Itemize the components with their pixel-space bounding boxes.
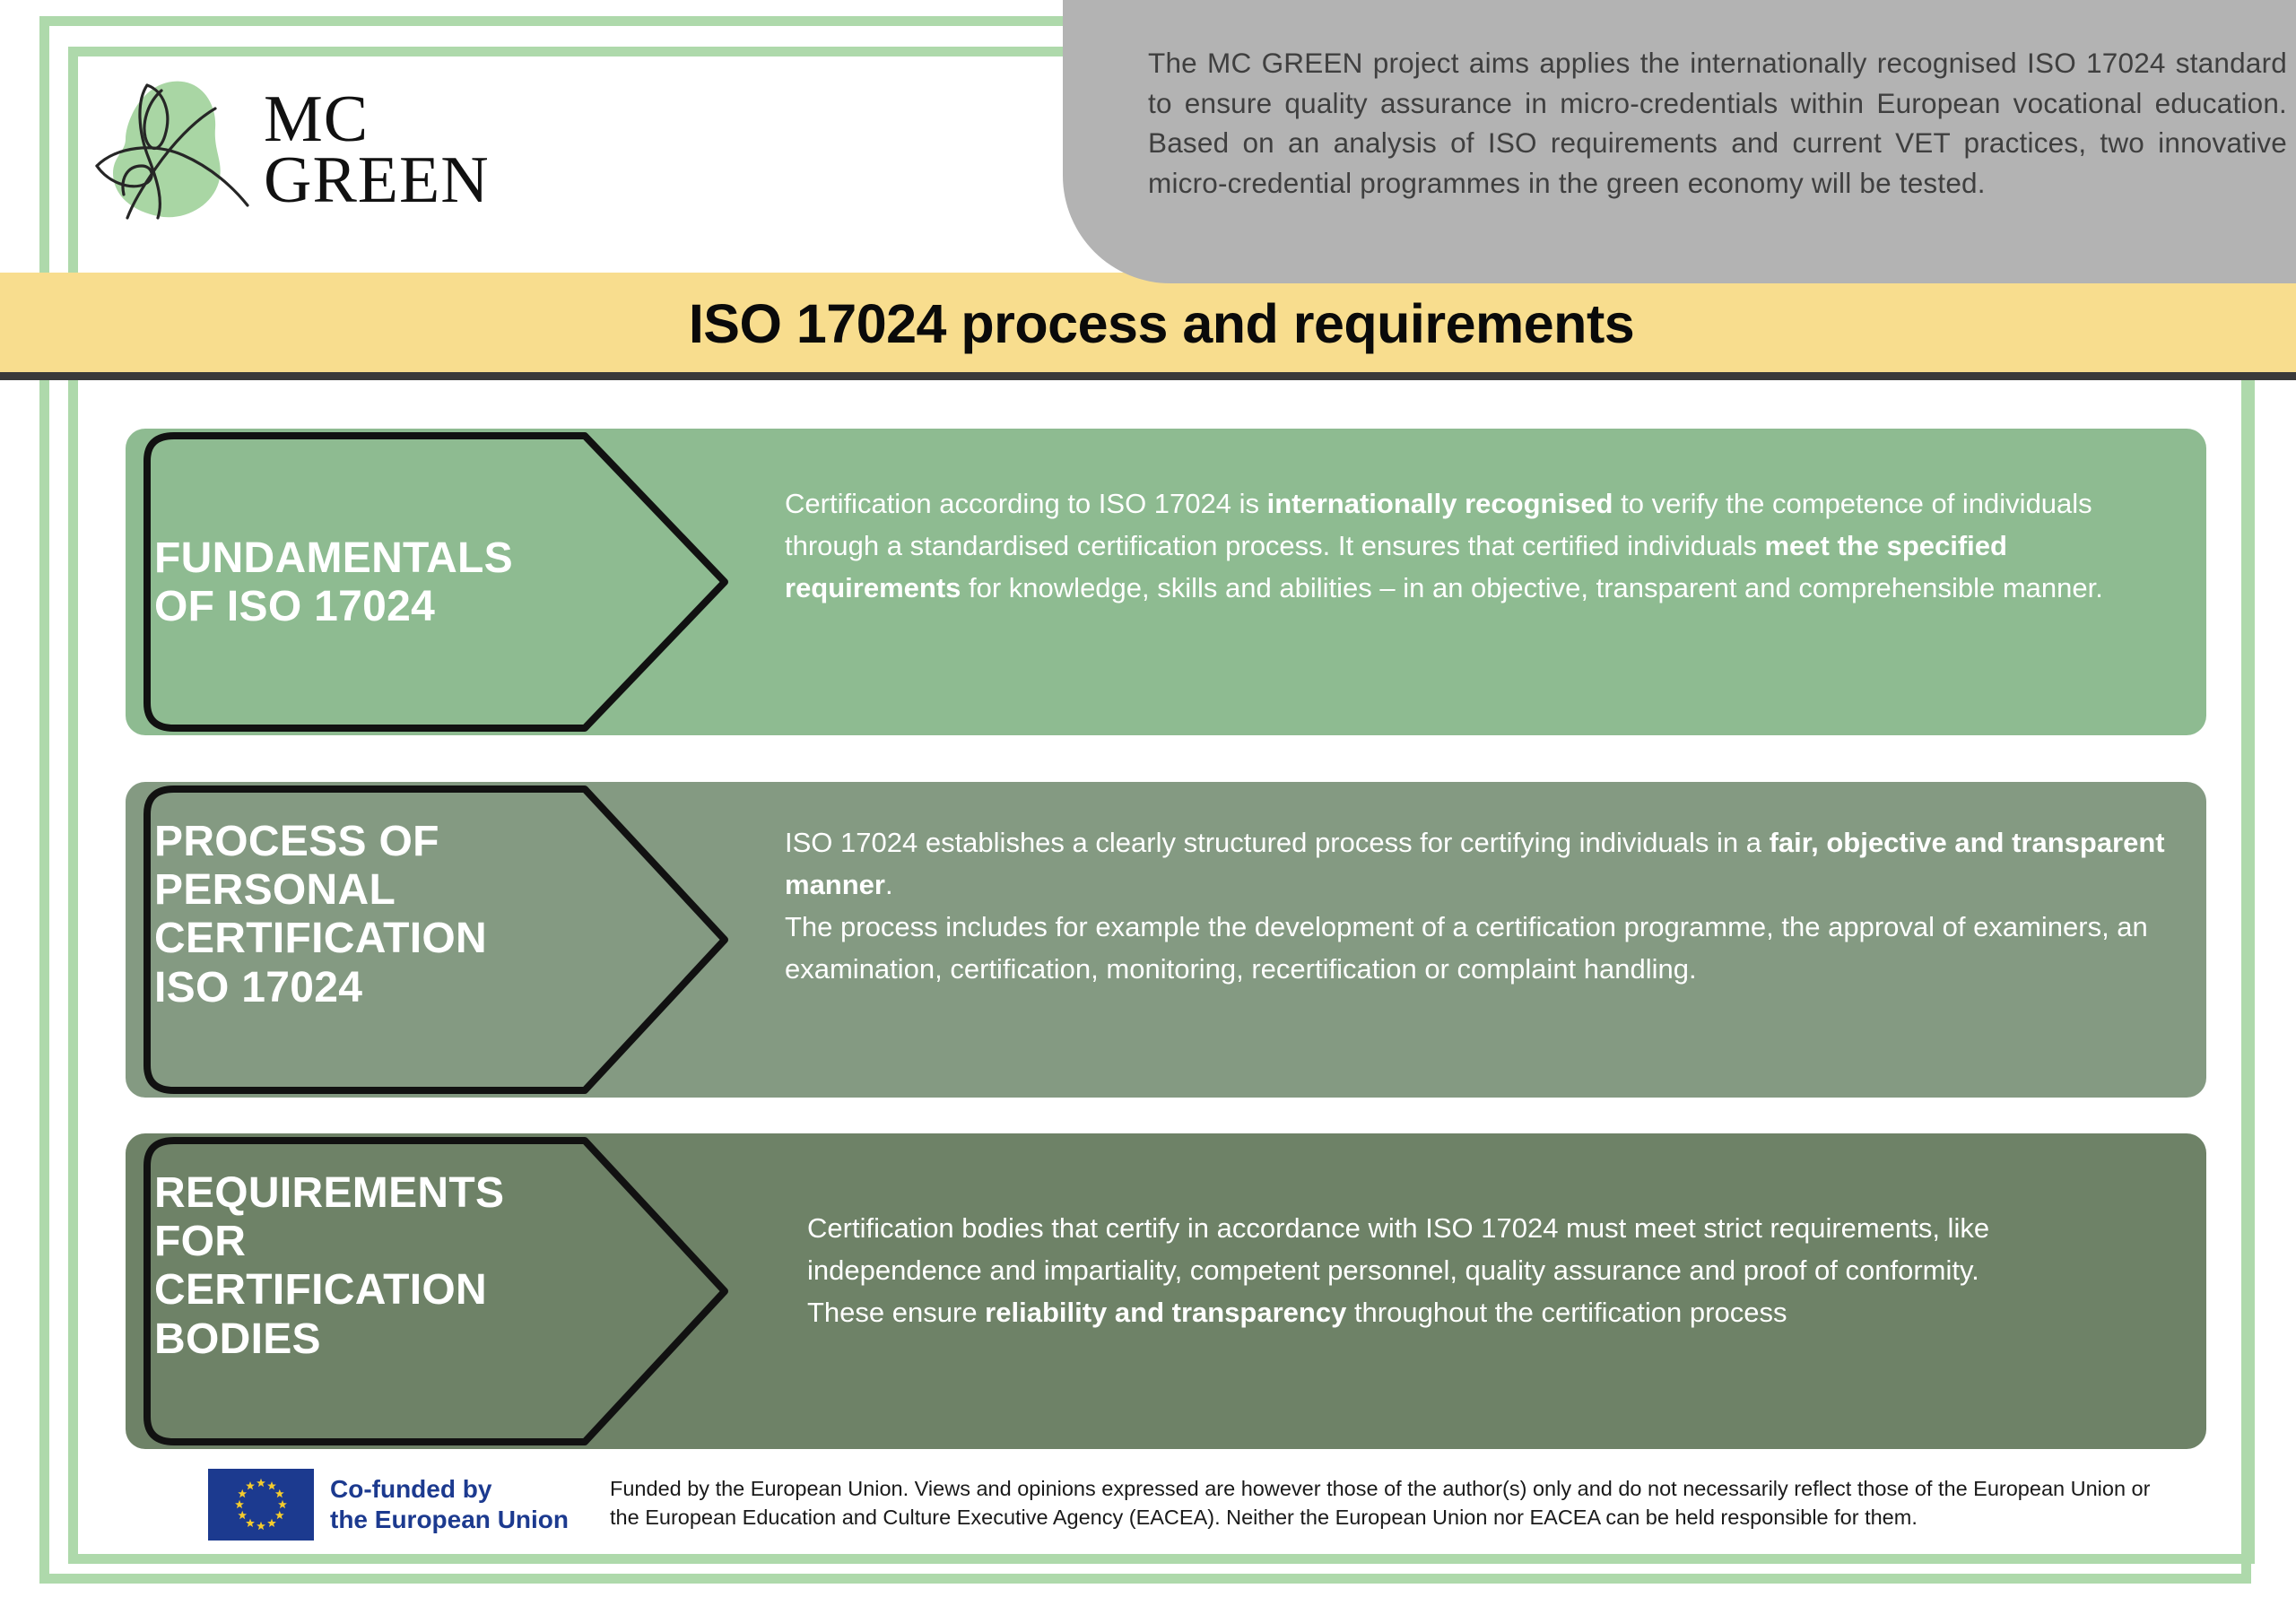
- section-heading-1: FUNDAMENTALS OF ISO 17024: [154, 534, 513, 631]
- footer: Co-funded by the European Union Funded b…: [0, 1462, 2296, 1560]
- eu-funding-caption: Co-funded by the European Union: [330, 1474, 569, 1535]
- brand-logo-text: MC GREEN: [264, 89, 490, 211]
- eu-funding-logo: Co-funded by the European Union: [208, 1469, 569, 1541]
- mc-green-leaf-butterfly-logo-icon: [90, 69, 260, 230]
- section-heading-2: PROCESS OF PERSONAL CERTIFICATION ISO 17…: [154, 818, 487, 1012]
- section-body-3: Certification bodies that certify in acc…: [807, 1207, 2135, 1333]
- section-body-1: Certification according to ISO 17024 is …: [785, 482, 2166, 609]
- funding-disclaimer: Funded by the European Union. Views and …: [610, 1474, 2170, 1532]
- section-body-2: ISO 17024 establishes a clearly structur…: [785, 821, 2166, 990]
- section-heading-3: REQUIREMENTS FOR CERTIFICATION BODIES: [154, 1169, 504, 1364]
- brand-logo: MC GREEN: [90, 65, 628, 235]
- intro-paragraph: The MC GREEN project aims applies the in…: [1148, 43, 2287, 204]
- brand-logo-line1: MC: [264, 89, 490, 150]
- section-process: PROCESS OF PERSONAL CERTIFICATION ISO 17…: [126, 782, 2206, 1098]
- european-union-flag-icon: [208, 1469, 314, 1541]
- section-requirements: REQUIREMENTS FOR CERTIFICATION BODIES Ce…: [126, 1133, 2206, 1449]
- brand-logo-line2: GREEN: [264, 150, 490, 211]
- page-title: ISO 17024 process and requirements: [0, 292, 2296, 355]
- section-fundamentals: FUNDAMENTALS OF ISO 17024 Certification …: [126, 429, 2206, 735]
- infographic-page: MC GREEN The MC GREEN project aims appli…: [0, 0, 2296, 1623]
